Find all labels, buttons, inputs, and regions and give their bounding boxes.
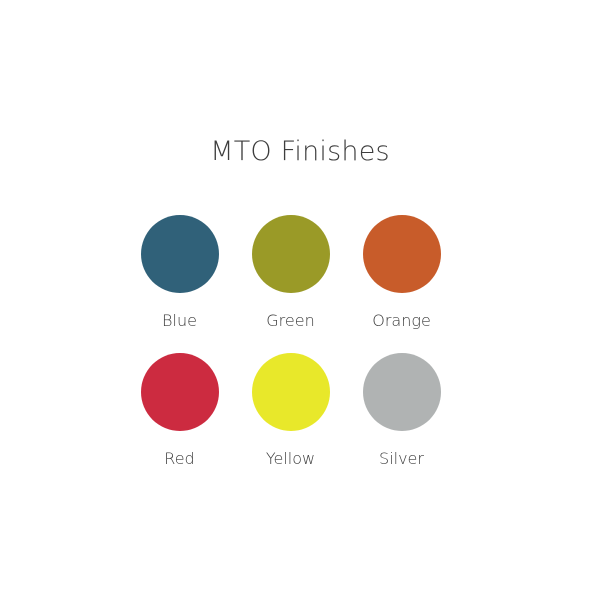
swatch-label-blue: Blue [162,312,197,330]
swatch-grid: Blue Green Orange Red Yellow Silver [124,215,476,491]
color-circle-red[interactable] [141,353,219,431]
swatch-label-red: Red [164,450,194,468]
color-circle-silver[interactable] [363,353,441,431]
swatch-label-yellow: Yellow [266,450,315,468]
swatch-label-orange: Orange [372,312,431,330]
color-circle-blue[interactable] [141,215,219,293]
swatch-item-yellow[interactable]: Yellow [235,353,346,491]
swatch-item-green[interactable]: Green [235,215,346,353]
swatch-label-green: Green [266,312,314,330]
color-circle-green[interactable] [252,215,330,293]
swatch-item-orange[interactable]: Orange [346,215,457,353]
color-circle-yellow[interactable] [252,353,330,431]
color-circle-orange[interactable] [363,215,441,293]
swatch-item-silver[interactable]: Silver [346,353,457,491]
color-swatch-board: MTO Finishes Blue Green Orange Red Yello… [0,0,600,600]
swatch-label-silver: Silver [379,450,424,468]
swatch-item-red[interactable]: Red [124,353,235,491]
page-title: MTO Finishes [0,136,600,168]
swatch-item-blue[interactable]: Blue [124,215,235,353]
